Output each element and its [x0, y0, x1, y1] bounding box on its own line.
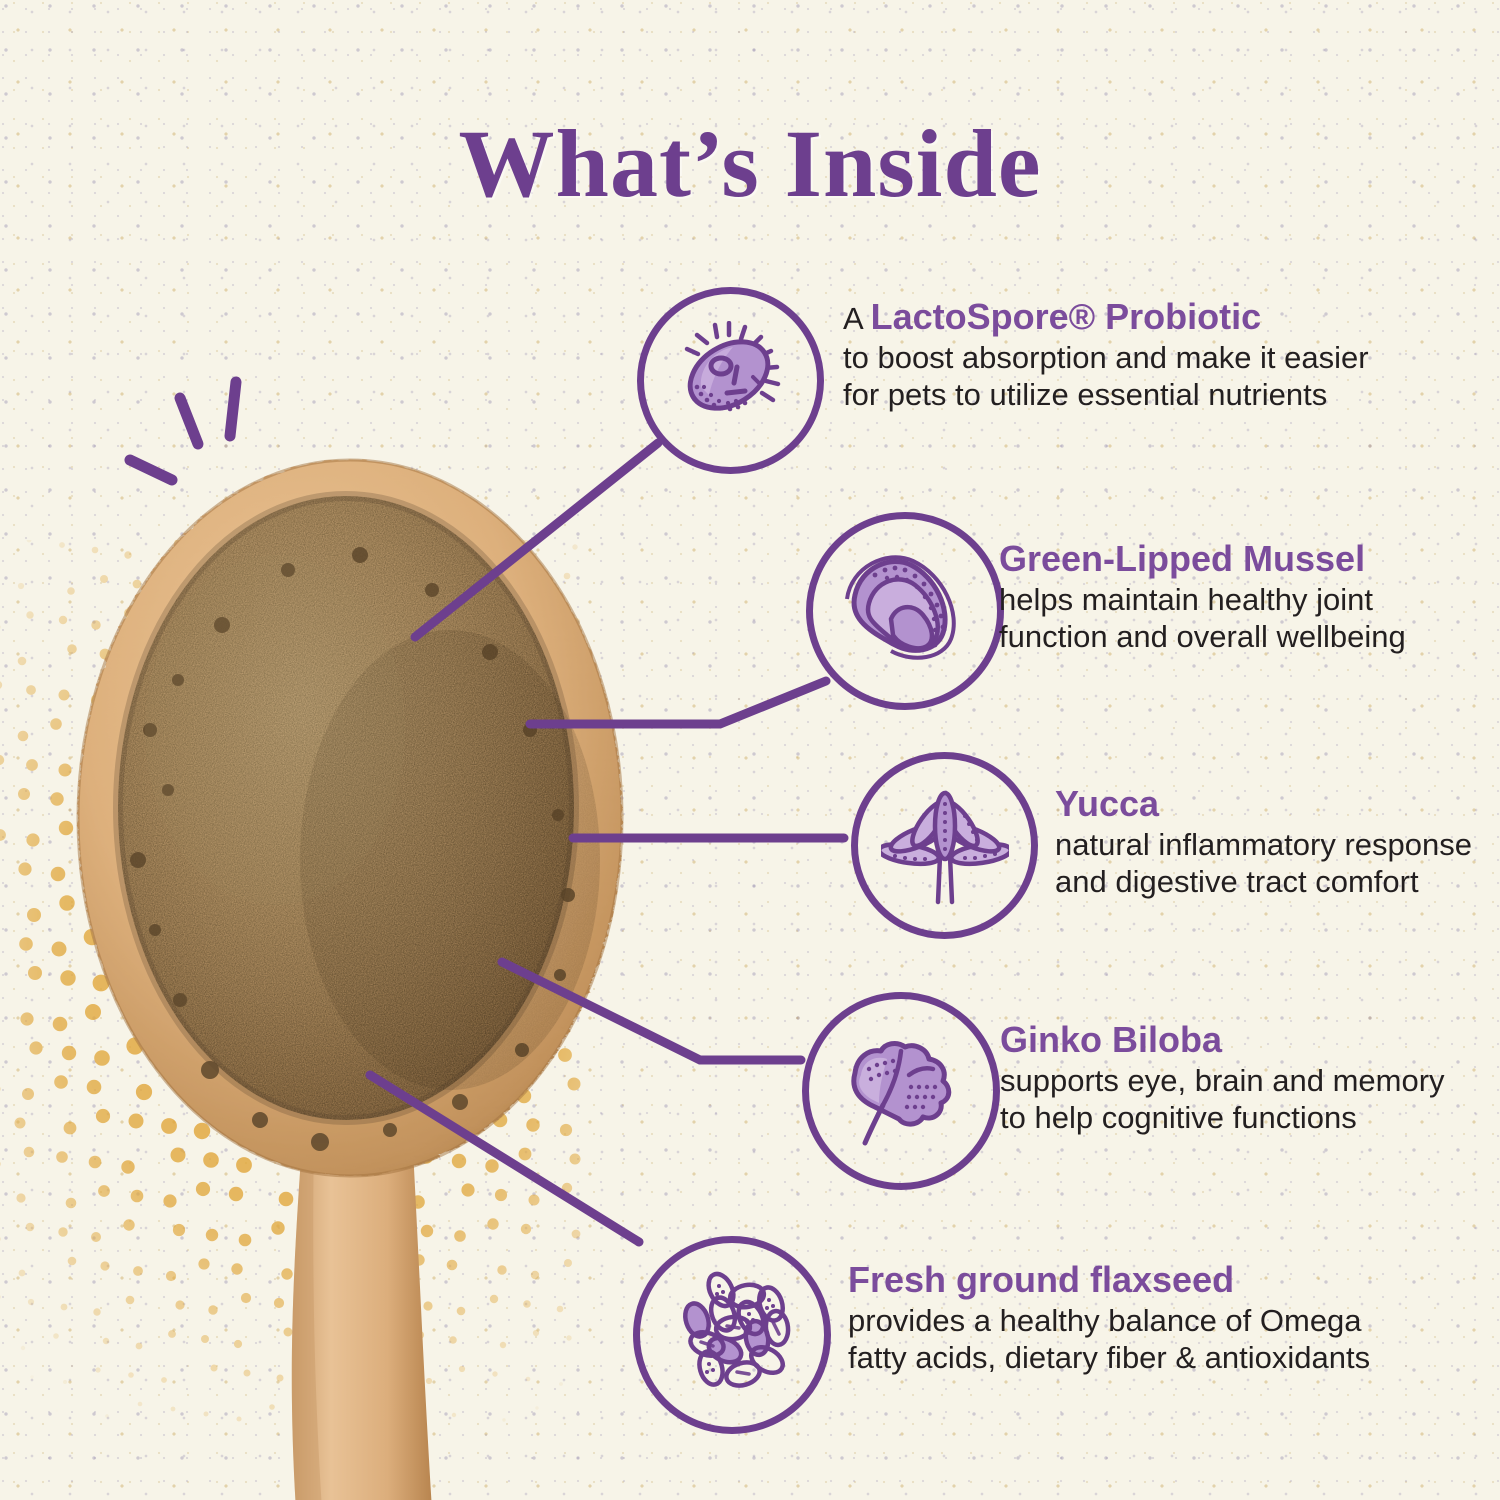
connector-ginko: [502, 962, 801, 1060]
callout-lead-lactospore: A: [843, 301, 871, 336]
whats-inside-infographic: What’s Inside: [0, 0, 1500, 1500]
callout-body-line: for pets to utilize essential nutrients: [843, 376, 1369, 413]
callout-flaxseed: Fresh ground flaxseed provides a healthy…: [848, 1259, 1370, 1376]
callout-heading-ginko: Ginko Biloba: [1000, 1019, 1445, 1060]
bacteria-probiotic-icon: [671, 321, 791, 441]
page-title: What’s Inside: [0, 108, 1500, 219]
callout-body-line: helps maintain healthy joint: [999, 581, 1406, 618]
callout-body-line: fatty acids, dietary fiber & antioxidant…: [848, 1339, 1370, 1376]
callout-body-flaxseed: provides a healthy balance of Omega fatt…: [848, 1302, 1370, 1376]
callout-body-line: to boost absorption and make it easier: [843, 339, 1369, 376]
icon-circle-yucca[interactable]: [851, 752, 1038, 939]
icon-circle-mussel[interactable]: [806, 512, 1004, 710]
callout-body-ginko: supports eye, brain and memory to help c…: [1000, 1062, 1445, 1136]
icon-circle-lactospore[interactable]: [637, 287, 824, 474]
callout-heading-flaxseed: Fresh ground flaxseed: [848, 1259, 1370, 1300]
callout-body-line: and digestive tract comfort: [1055, 863, 1472, 900]
callout-ginko: Ginko Biloba supports eye, brain and mem…: [1000, 1019, 1445, 1136]
callout-heading-text-lactospore: LactoSpore® Probiotic: [871, 296, 1262, 337]
mussel-shell-icon: [839, 547, 971, 675]
callout-body-yucca: natural inflammatory response and digest…: [1055, 826, 1472, 900]
gold-halftone-pattern: [0, 540, 600, 1440]
callout-mussel: Green-Lipped Mussel helps maintain healt…: [999, 538, 1406, 655]
callout-yucca: Yucca natural inflammatory response and …: [1055, 783, 1472, 900]
callout-body-line: supports eye, brain and memory: [1000, 1062, 1445, 1099]
callout-body-lactospore: to boost absorption and make it easier f…: [843, 339, 1369, 413]
ginkgo-leaf-icon: [835, 1025, 967, 1157]
callout-body-mussel: helps maintain healthy joint function an…: [999, 581, 1406, 655]
spoon-with-powder-image: [60, 430, 720, 1500]
flaxseed-cluster-icon: [661, 1264, 803, 1406]
callout-body-line: natural inflammatory response: [1055, 826, 1472, 863]
callout-lactospore: A LactoSpore® Probiotic to boost absorpt…: [843, 296, 1369, 413]
callout-body-line: provides a healthy balance of Omega: [848, 1302, 1370, 1339]
icon-circle-ginko[interactable]: [802, 992, 1000, 1190]
callout-body-line: to help cognitive functions: [1000, 1099, 1445, 1136]
connector-mussel: [530, 681, 826, 724]
yucca-plant-icon: [881, 782, 1009, 910]
callout-heading-yucca: Yucca: [1055, 783, 1472, 824]
connector-flaxseed: [370, 1075, 639, 1242]
icon-circle-flaxseed[interactable]: [633, 1236, 831, 1434]
sparkle-dashes-icon: [120, 370, 320, 500]
callout-body-line: function and overall wellbeing: [999, 618, 1406, 655]
callout-heading-lactospore: A LactoSpore® Probiotic: [843, 296, 1369, 337]
connector-lactospore: [415, 443, 658, 637]
callout-heading-mussel: Green-Lipped Mussel: [999, 538, 1406, 579]
